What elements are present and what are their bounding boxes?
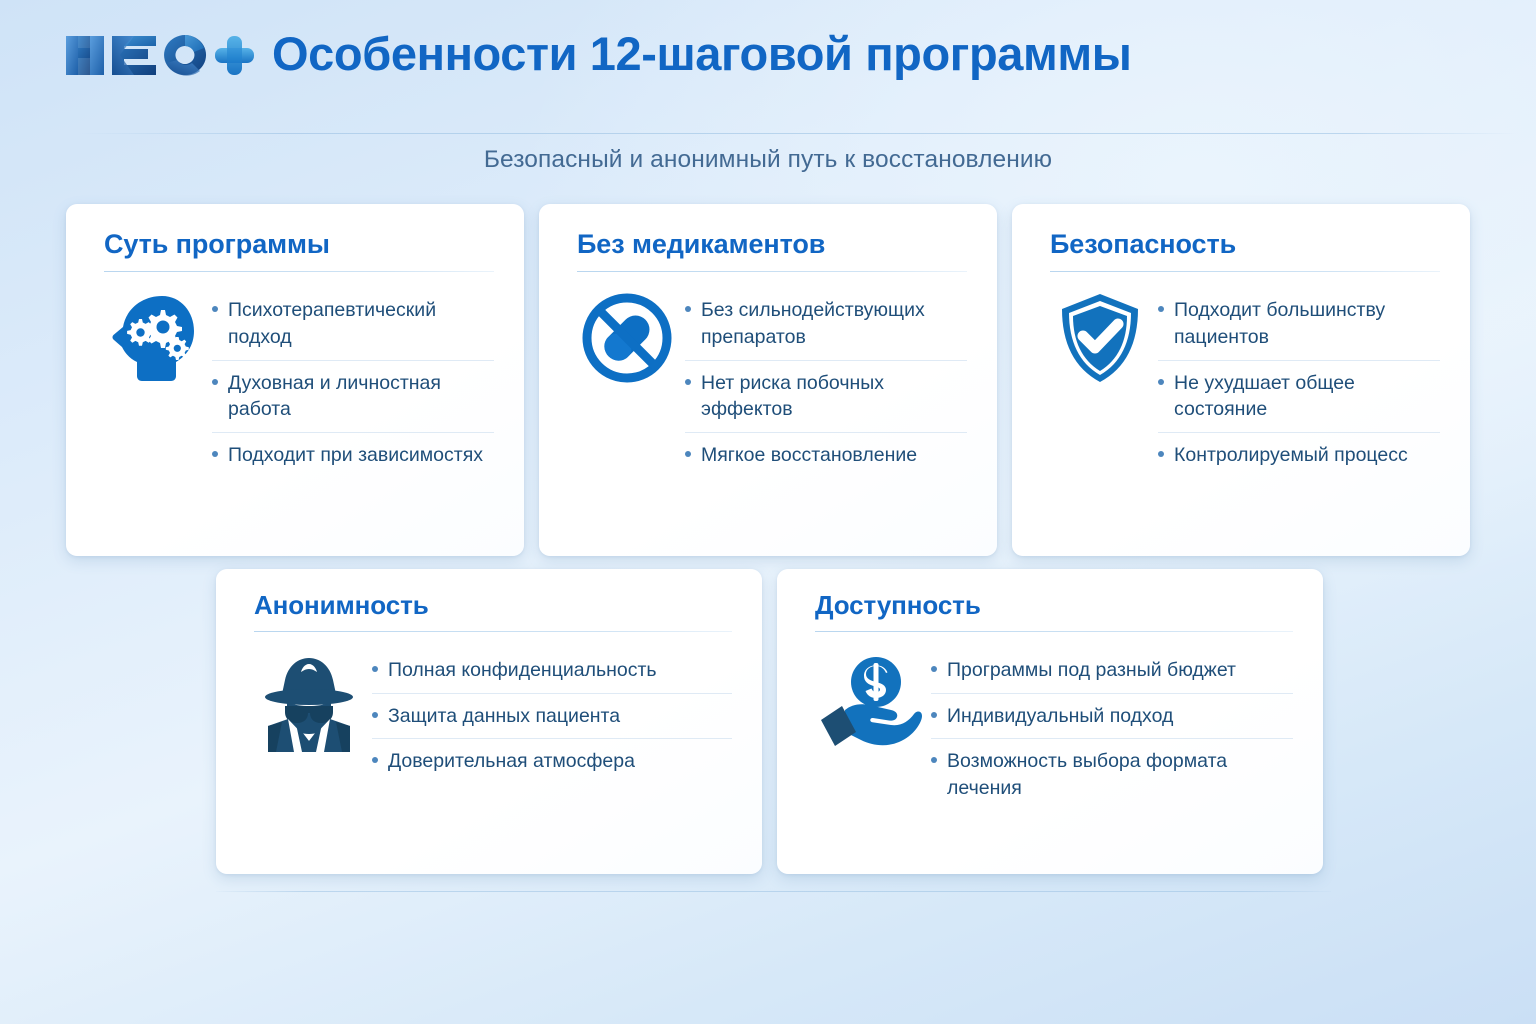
- spy-hat-icon: [254, 648, 364, 763]
- shield-check-icon: [1050, 288, 1150, 393]
- list-item: Индивидуальный подход: [931, 694, 1293, 740]
- bullet-dot-icon: [372, 666, 378, 672]
- list-item: Подходит большинству пациентов: [1158, 288, 1440, 361]
- card-availability-title-divider: [815, 631, 1293, 632]
- card-nomeds-title-divider: [577, 271, 967, 272]
- card-safety: Безопасность Подходит большинству пациен…: [1012, 204, 1470, 556]
- list-item-label: Нет риска побочных эффектов: [701, 370, 967, 424]
- card-essence-title: Суть программы: [104, 230, 494, 260]
- neo-plus-logo: [64, 28, 256, 82]
- card-anonymity-title: Анонимность: [254, 591, 732, 620]
- card-safety-title: Безопасность: [1050, 230, 1440, 260]
- list-item: Психотерапевтический подход: [212, 288, 494, 361]
- list-item: Нет риска побочных эффектов: [685, 361, 967, 434]
- card-nomeds-bullets: Без сильнодействующих препаратов Нет рис…: [685, 288, 967, 479]
- page-subtitle: Безопасный и анонимный путь к восстановл…: [0, 146, 1536, 174]
- list-item-label: Полная конфиденциальность: [388, 657, 657, 684]
- list-item: Доверительная атмосфера: [372, 739, 732, 784]
- card-safety-bullets: Подходит большинству пациентов Не ухудша…: [1158, 288, 1440, 479]
- list-item: Полная конфиденциальность: [372, 648, 732, 694]
- card-nomeds-title: Без медикаментов: [577, 230, 967, 260]
- list-item-label: Индивидуальный подход: [947, 703, 1173, 730]
- card-availability-title: Доступность: [815, 591, 1293, 620]
- list-item-label: Возможность выбора формата лечения: [947, 748, 1293, 802]
- bullet-dot-icon: [1158, 379, 1164, 385]
- card-availability-bullets: Программы под разный бюджет Индивидуальн…: [931, 648, 1293, 812]
- bullet-dot-icon: [931, 757, 937, 763]
- list-item: Возможность выбора формата лечения: [931, 739, 1293, 811]
- bullet-dot-icon: [931, 666, 937, 672]
- list-item-label: Подходит большинству пациентов: [1174, 297, 1440, 351]
- list-item: Защита данных пациента: [372, 694, 732, 740]
- footer-divider: [216, 891, 1331, 892]
- bullet-dot-icon: [212, 379, 218, 385]
- head-gears-icon: [104, 288, 204, 393]
- card-essence-bullets: Психотерапевтический подход Духовная и л…: [212, 288, 494, 479]
- bullet-dot-icon: [1158, 451, 1164, 457]
- list-item-label: Не ухудшает общее состояние: [1174, 370, 1440, 424]
- list-item-label: Без сильнодействующих препаратов: [701, 297, 967, 351]
- card-anonymity: Анонимность Пол: [216, 569, 762, 874]
- hand-dollar-icon: [815, 648, 923, 761]
- list-item-label: Духовная и личностная работа: [228, 370, 494, 424]
- list-item-label: Защита данных пациента: [388, 703, 620, 730]
- bullet-dot-icon: [372, 712, 378, 718]
- card-safety-title-divider: [1050, 271, 1440, 272]
- header-divider: [78, 133, 1518, 134]
- page-title: Особенности 12-шаговой программы: [272, 30, 1132, 81]
- page-header: Особенности 12-шаговой программы: [0, 0, 1536, 134]
- list-item: Контролируемый процесс: [1158, 433, 1440, 478]
- bullet-dot-icon: [372, 757, 378, 763]
- bullet-dot-icon: [212, 306, 218, 312]
- list-item: Мягкое восстановление: [685, 433, 967, 478]
- list-item-label: Контролируемый процесс: [1174, 442, 1408, 469]
- no-pills-icon: [577, 288, 677, 393]
- card-essence: Суть программы Психотерапевтический подх…: [66, 204, 524, 556]
- bullet-dot-icon: [685, 451, 691, 457]
- bullet-dot-icon: [931, 712, 937, 718]
- card-essence-title-divider: [104, 271, 494, 272]
- list-item-label: Подходит при зависимостях: [228, 442, 483, 469]
- list-item-label: Психотерапевтический подход: [228, 297, 494, 351]
- list-item-label: Доверительная атмосфера: [388, 748, 635, 775]
- list-item: Без сильнодействующих препаратов: [685, 288, 967, 361]
- card-nomeds: Без медикаментов Без сильнодействующих п…: [539, 204, 997, 556]
- list-item: Духовная и личностная работа: [212, 361, 494, 434]
- bullet-dot-icon: [685, 379, 691, 385]
- card-anonymity-title-divider: [254, 631, 732, 632]
- bullet-dot-icon: [1158, 306, 1164, 312]
- list-item: Подходит при зависимостях: [212, 433, 494, 478]
- bullet-dot-icon: [685, 306, 691, 312]
- card-anonymity-bullets: Полная конфиденциальность Защита данных …: [372, 648, 732, 785]
- list-item: Программы под разный бюджет: [931, 648, 1293, 694]
- list-item: Не ухудшает общее состояние: [1158, 361, 1440, 434]
- bullet-dot-icon: [212, 451, 218, 457]
- list-item-label: Программы под разный бюджет: [947, 657, 1236, 684]
- card-availability: Доступность Программы под разный бюджет: [777, 569, 1323, 874]
- list-item-label: Мягкое восстановление: [701, 442, 917, 469]
